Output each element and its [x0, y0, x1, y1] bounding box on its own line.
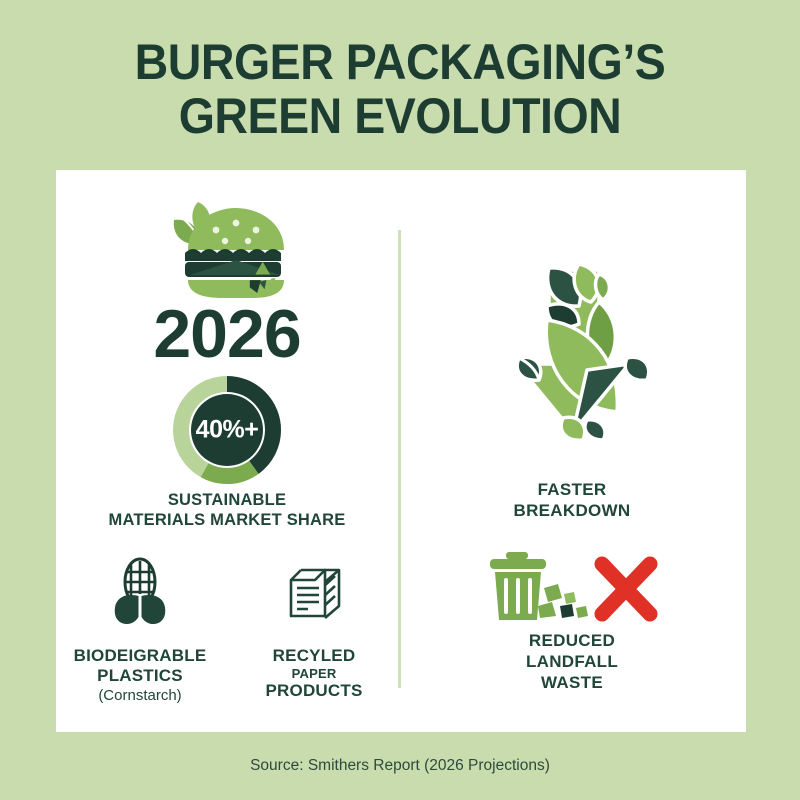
source-note: Source: Smithers Report (2026 Projection… [0, 757, 800, 775]
infographic-poster: BURGER PACKAGING’S GREEN EVOLUTION [0, 0, 800, 800]
year-label: 2026 [56, 300, 398, 368]
material-item-line-2: PRODUCTS [266, 681, 363, 701]
donut-center-value: 40%+ [196, 416, 259, 445]
title-line-2: GREEN EVOLUTION [28, 90, 772, 144]
reduced-waste-line-1: REDUCED [398, 630, 746, 651]
right-column: FASTER BREAKDOWN [398, 170, 746, 732]
material-item-line-2: PLASTICS [74, 666, 207, 686]
material-item-label: RECYLED PAPER PRODUCTS [266, 646, 363, 701]
market-share-caption-line-1: SUSTAINABLE [56, 490, 398, 510]
paper-stack-icon [277, 550, 351, 636]
title-line-1: BURGER PACKAGING’S [28, 36, 772, 90]
material-item-sublabel: (Cornstarch) [98, 687, 181, 704]
faster-breakdown-line-1: FASTER [398, 480, 746, 501]
content-card: 2026 40%+ SUSTAINABLE MATERIALS MARKET S… [56, 170, 746, 732]
material-item-recycled-paper: RECYLED PAPER PRODUCTS [249, 550, 379, 704]
corn-icon [109, 550, 171, 636]
faster-breakdown-line-2: BREAKDOWN [398, 501, 746, 522]
reduced-waste-caption: REDUCED LANDFALL WASTE [398, 630, 746, 693]
page-title: BURGER PACKAGING’S GREEN EVOLUTION [0, 36, 800, 143]
left-column: 2026 40%+ SUSTAINABLE MATERIALS MARKET S… [56, 170, 398, 732]
reduced-waste-icons [482, 548, 662, 626]
leaf-down-arrow-icon [487, 242, 657, 442]
faster-breakdown-caption: FASTER BREAKDOWN [398, 480, 746, 521]
burger-with-leaf-and-recycle-icon [152, 196, 302, 304]
material-items-row: BIODEIGRABLE PLASTICS (Cornstarch) [56, 550, 398, 704]
reduced-waste-line-2: LANDFALL [398, 651, 746, 672]
material-item-line-1: RECYLED [266, 646, 363, 666]
waste-debris-icon [538, 584, 588, 618]
material-item-line-small: PAPER [266, 666, 363, 681]
red-cross-icon [602, 564, 650, 614]
market-share-caption-line-2: MATERIALS MARKET SHARE [56, 510, 398, 530]
reduced-waste-line-3: WASTE [398, 672, 746, 693]
market-share-caption: SUSTAINABLE MATERIALS MARKET SHARE [56, 490, 398, 530]
market-share-donut-chart: 40%+ [172, 375, 282, 485]
material-item-label: BIODEIGRABLE PLASTICS [74, 646, 207, 685]
material-item-biodegradable-plastics: BIODEIGRABLE PLASTICS (Cornstarch) [75, 550, 205, 704]
material-item-line-1: BIODEIGRABLE [74, 646, 207, 666]
